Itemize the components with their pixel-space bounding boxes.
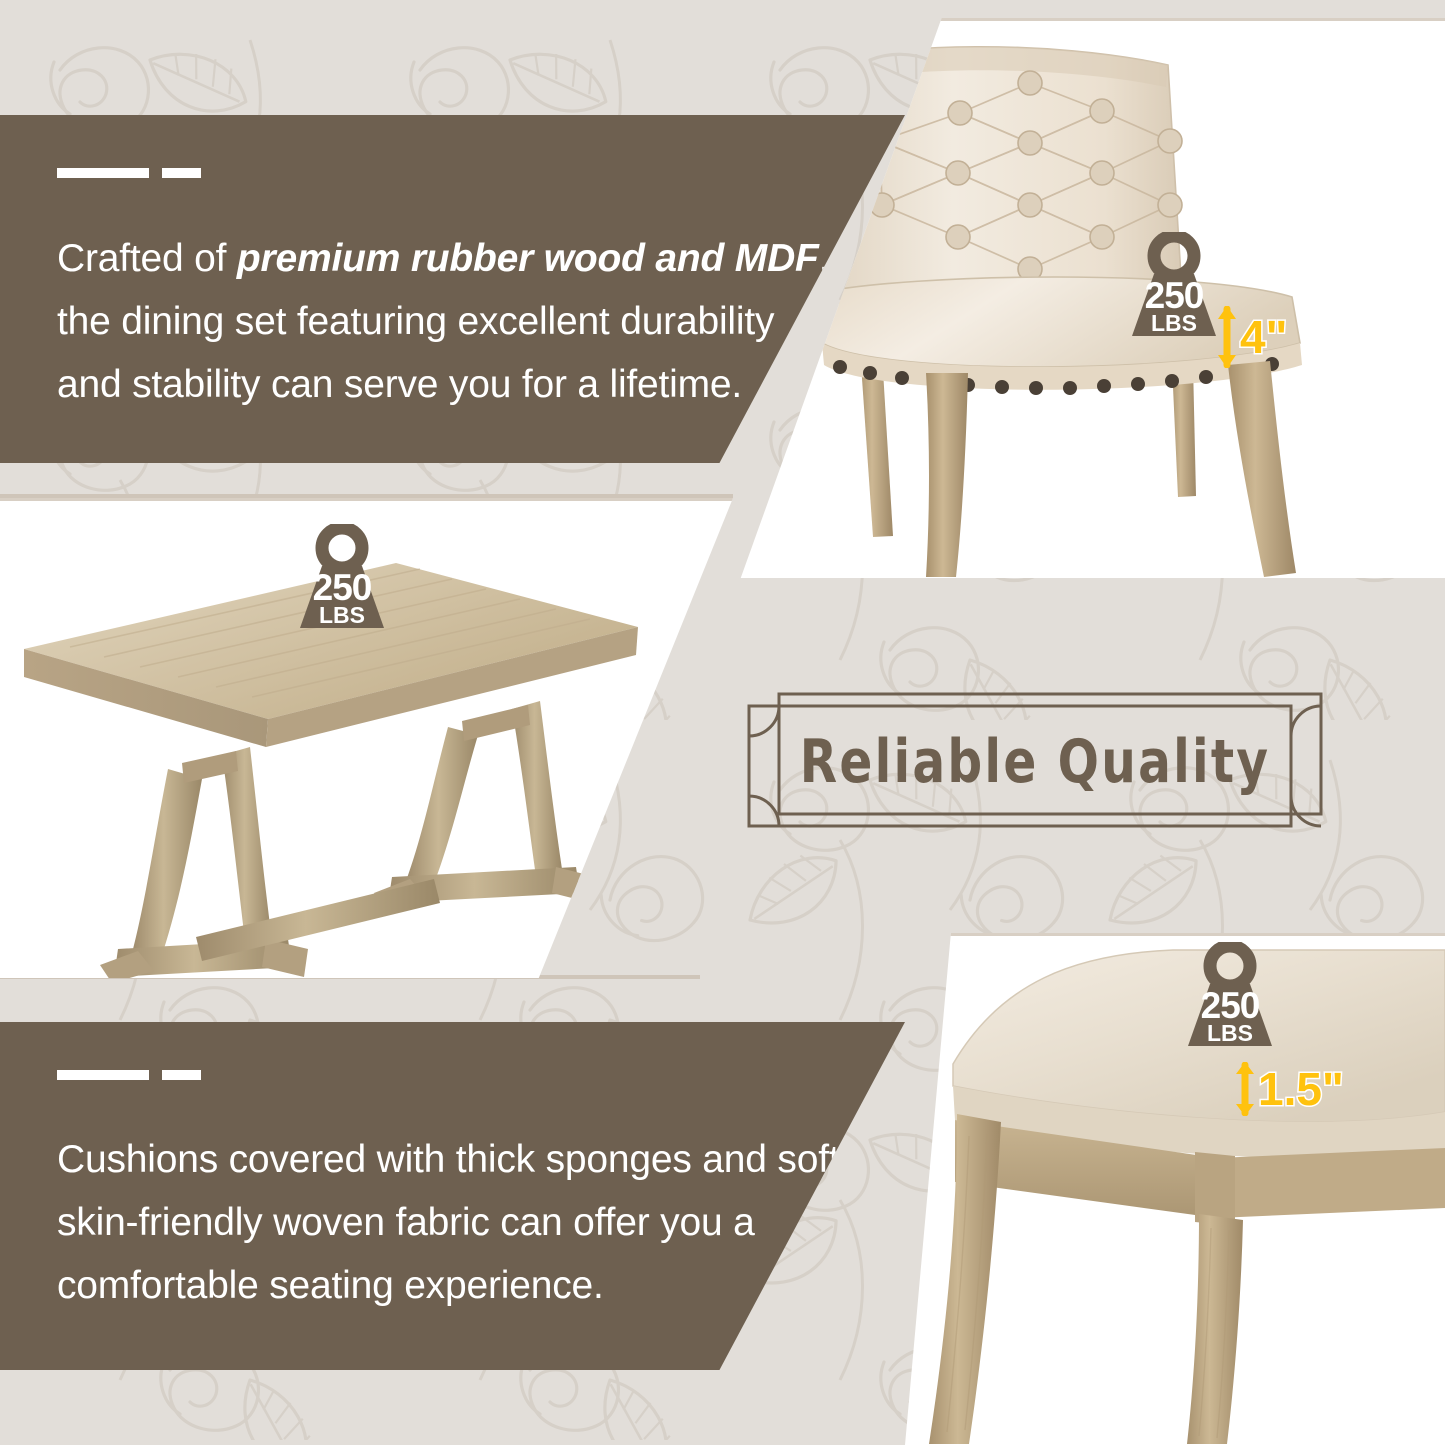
copy-panel-durability: Crafted of premium rubber wood and MDF, …: [0, 115, 905, 463]
copy-panel-cushions: Cushions covered with thick sponges and …: [0, 1022, 905, 1370]
chair-illustration: [730, 21, 1445, 578]
copy-text-cushions: Cushions covered with thick sponges and …: [57, 1128, 847, 1318]
dash-long-icon: [57, 1070, 149, 1080]
copy-line1-emphasis: premium rubber wood and MDF: [237, 237, 819, 280]
dash-short-icon: [162, 1070, 201, 1080]
table-illustration: [0, 501, 733, 978]
dash-long-icon: [57, 168, 149, 178]
copy-text-durability: Crafted of premium rubber wood and MDF, …: [57, 227, 847, 417]
accent-dashes: [57, 168, 201, 178]
copy-line1: Cushions covered with thick sponges and: [57, 1138, 767, 1181]
copy-line1-suffix: ,: [819, 237, 830, 280]
reliable-quality-plaque: Reliable Quality: [745, 684, 1325, 836]
infographic-canvas: 250 LBS 4": [0, 0, 1445, 1445]
product-card-bench: [905, 933, 1445, 1445]
accent-dashes: [57, 1070, 201, 1080]
product-card-chair: [730, 18, 1445, 578]
bench-illustration: [905, 936, 1445, 1445]
dash-short-icon: [162, 168, 201, 178]
copy-line2: the dining set featuring excellent durab…: [57, 300, 774, 343]
divider-above-table-card: [0, 494, 733, 498]
product-card-table: [0, 498, 733, 978]
copy-line3: and stability can serve you for a lifeti…: [57, 363, 742, 406]
plaque-label: Reliable Quality: [774, 684, 1296, 836]
copy-line1-prefix: Crafted of: [57, 237, 237, 280]
